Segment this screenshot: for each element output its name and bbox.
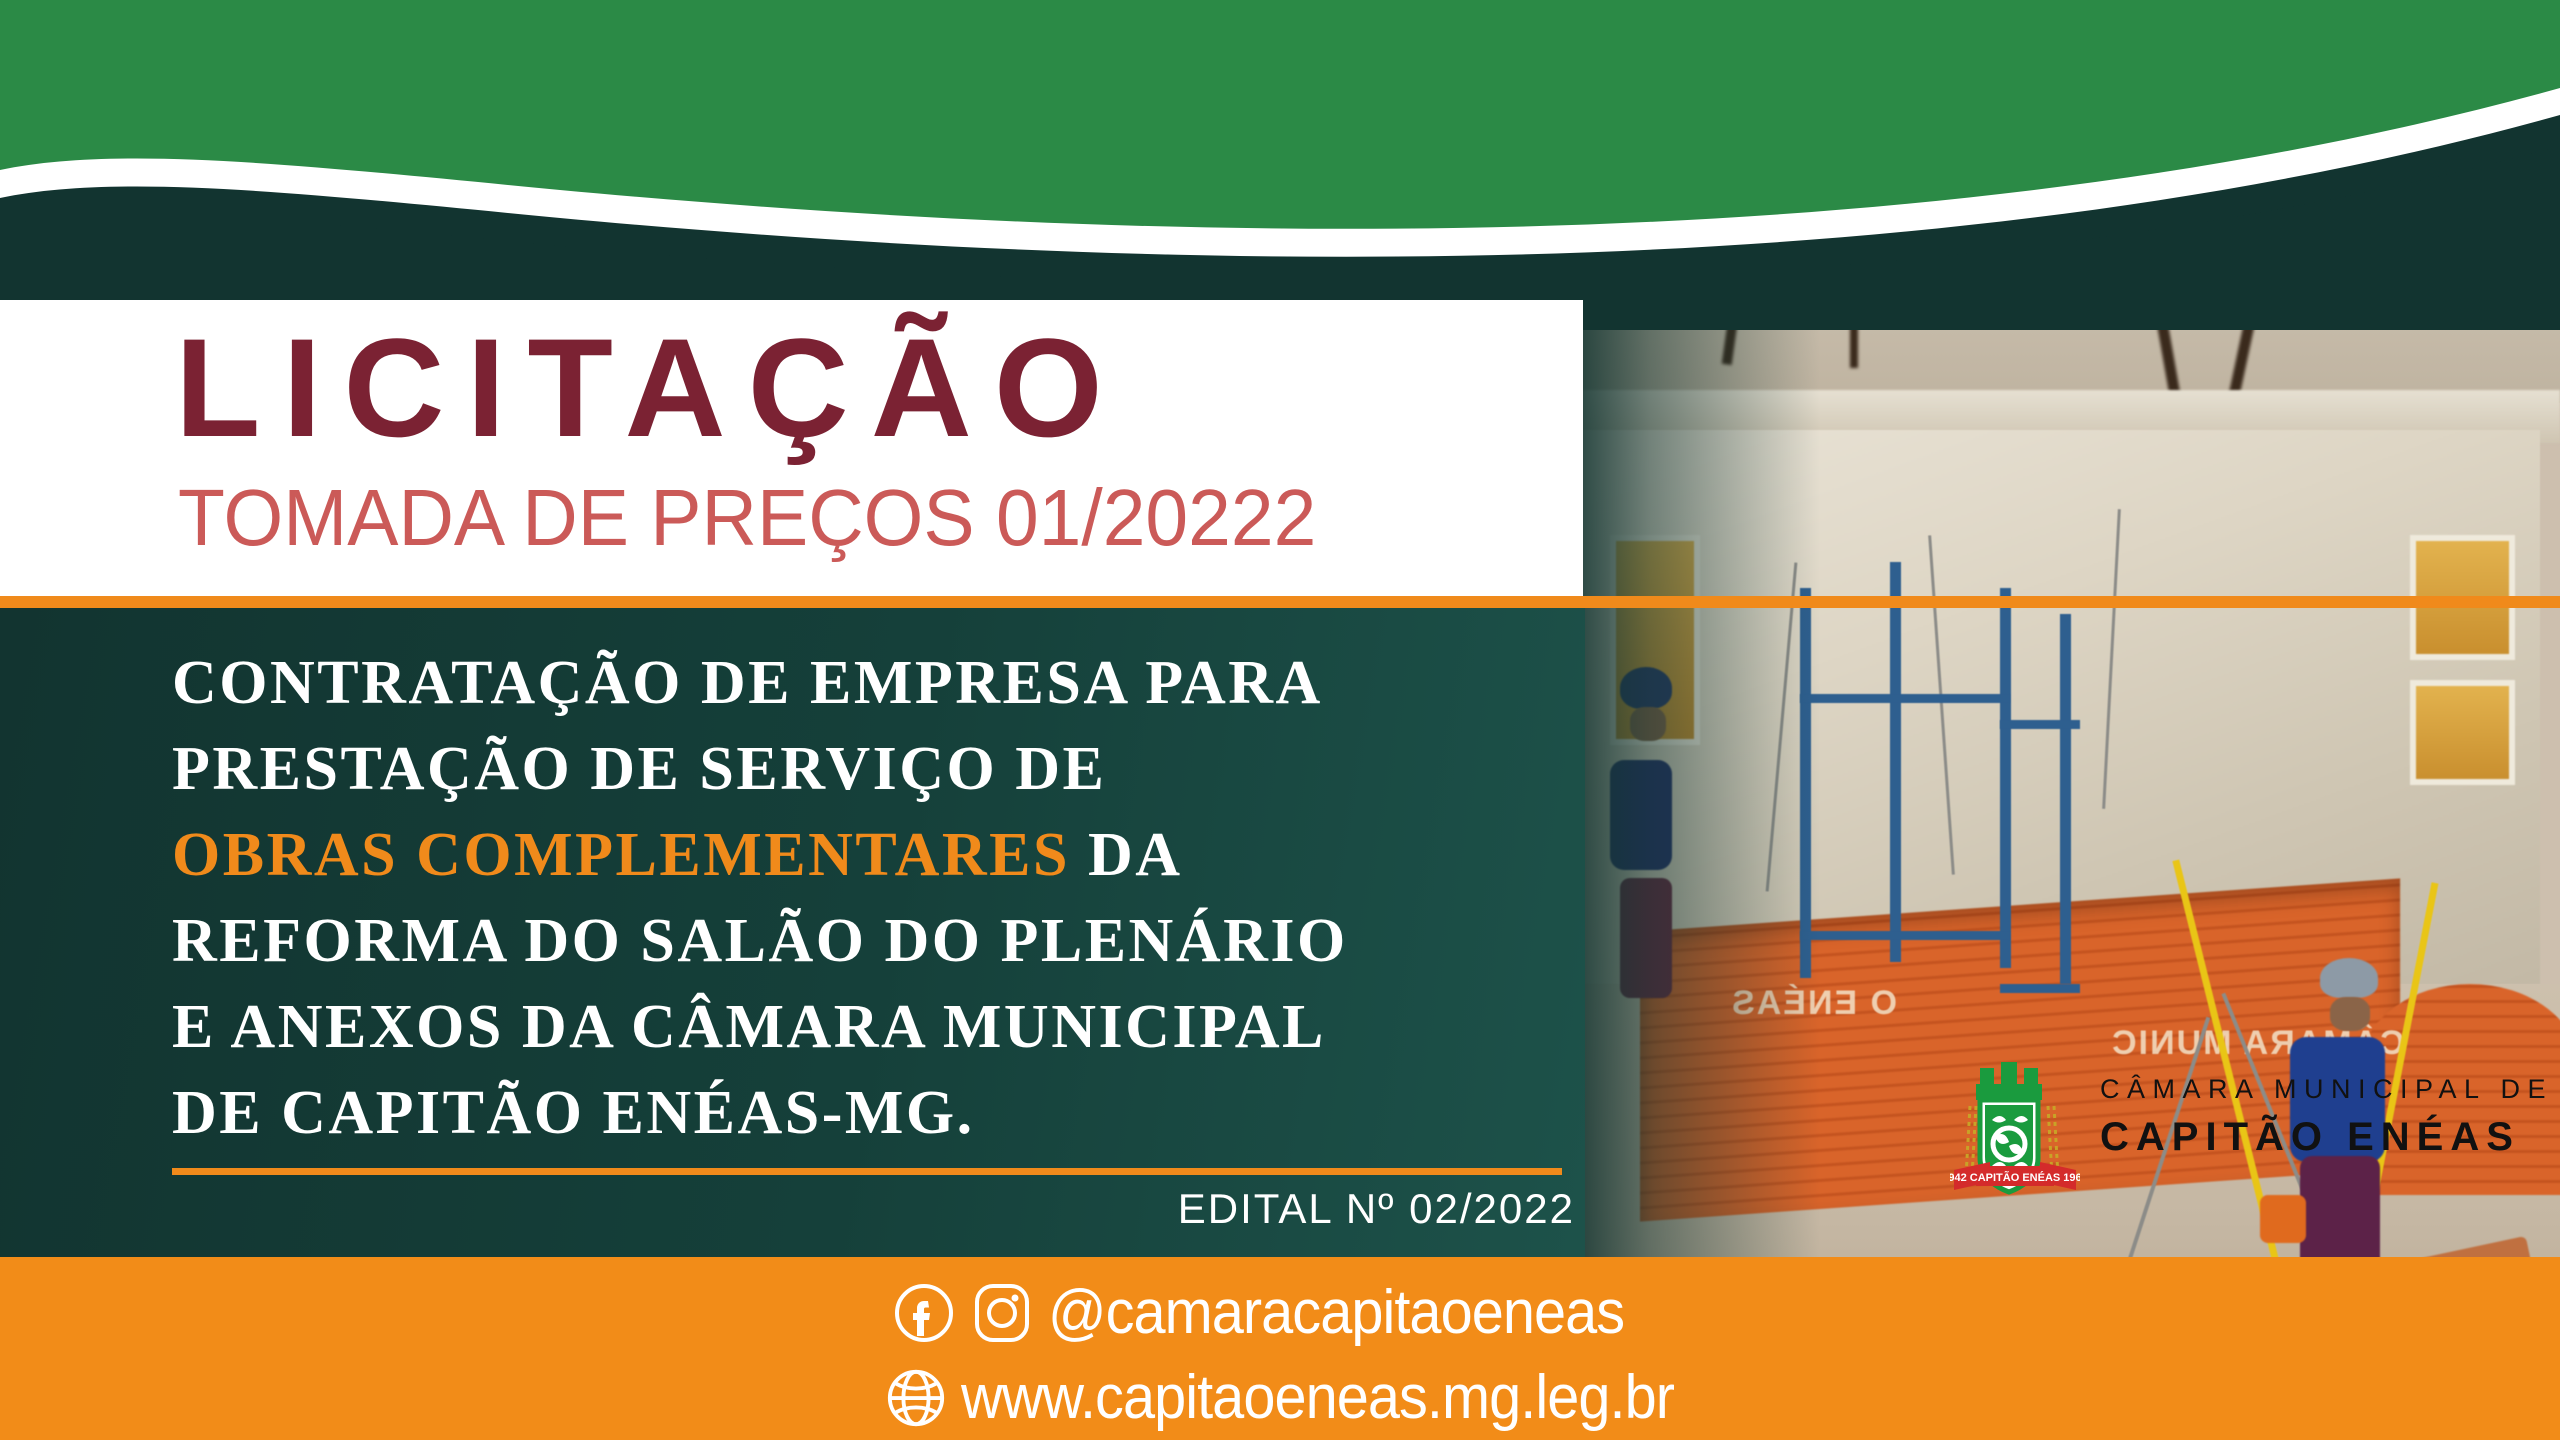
website-url[interactable]: www.capitaoeneas.mg.leg.br	[961, 1362, 1674, 1433]
description-line-2: PRESTAÇÃO DE SERVIÇO DE	[172, 726, 1602, 812]
description-line-6: DE CAPITÃO ENÉAS-MG.	[172, 1070, 1602, 1156]
footer-website-row: www.capitaoeneas.mg.leg.br	[0, 1362, 2560, 1433]
footer-bar: @camaracapitaoeneas www.capitaoeneas.mg.…	[0, 1257, 2560, 1440]
description-line-3: OBRAS COMPLEMENTARES DA	[172, 812, 1602, 898]
orange-divider-top	[0, 596, 2560, 608]
camara-logo: 1942 CAPITÃO ENÉAS 1962 CÂMARA MUNICIPAL…	[1950, 1058, 2420, 1203]
description-line-3-suffix: DA	[1070, 821, 1183, 889]
title-card: LICITAÇÃO TOMADA DE PREÇOS 01/20222	[0, 300, 1583, 596]
description-block: CONTRATAÇÃO DE EMPRESA PARA PRESTAÇÃO DE…	[172, 640, 1602, 1156]
page-title: LICITAÇÃO	[175, 318, 1125, 458]
page-subtitle: TOMADA DE PREÇOS 01/20222	[178, 478, 1316, 558]
orange-divider-bottom	[172, 1168, 1562, 1175]
facebook-icon[interactable]	[892, 1281, 956, 1345]
logo-line-1: CÂMARA MUNICIPAL DE	[2100, 1074, 2553, 1105]
licitacao-poster: O ENÉAS CÂMARA MUNIC	[0, 0, 2560, 1440]
description-line-1: CONTRATAÇÃO DE EMPRESA PARA	[172, 640, 1602, 726]
social-handle[interactable]: @camaracapitaoeneas	[1048, 1277, 1624, 1348]
description-line-5: E ANEXOS DA CÂMARA MUNICIPAL	[172, 984, 1602, 1070]
top-green-wave	[0, 0, 2560, 330]
edital-number: EDITAL Nº 02/2022	[1178, 1185, 1575, 1233]
instagram-icon[interactable]	[970, 1281, 1034, 1345]
description-highlight: OBRAS COMPLEMENTARES	[172, 821, 1070, 889]
logo-line-2: CAPITÃO ENÉAS	[2100, 1115, 2553, 1160]
coat-of-arms-icon: 1942 CAPITÃO ENÉAS 1962	[1950, 1058, 2080, 1203]
globe-icon[interactable]	[885, 1367, 947, 1429]
description-line-4: REFORMA DO SALÃO DO PLENÁRIO	[172, 898, 1602, 984]
footer-social-row: @camaracapitaoeneas	[0, 1277, 2560, 1348]
crest-ribbon-text: 1942 CAPITÃO ENÉAS 1962	[1950, 1171, 2080, 1184]
